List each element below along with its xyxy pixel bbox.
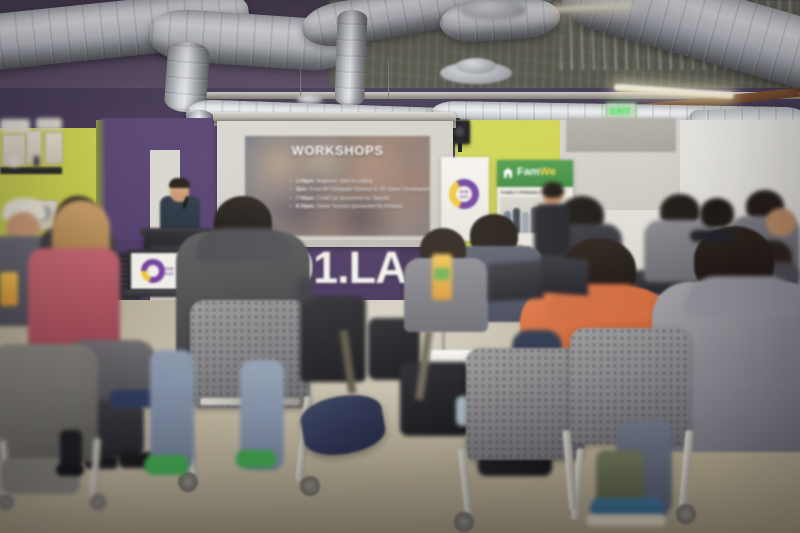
jacket-on-chair (0, 344, 98, 462)
hanger-rod (388, 60, 389, 98)
framed-art (45, 132, 63, 164)
green-sneaker (236, 450, 276, 468)
wall-soffit (566, 118, 676, 152)
laptop (540, 256, 588, 295)
laptop-hub-logo-icon (141, 259, 165, 283)
shelf-object-small (34, 156, 39, 167)
green-sneaker (144, 455, 188, 475)
famwe-logo-text: FamWe (517, 166, 556, 178)
shelf-object-mug (8, 155, 20, 167)
chair-caster (454, 512, 474, 532)
hub-logo-icon: HUB 3101 (449, 179, 479, 209)
boot-sole (56, 464, 84, 476)
chair-caster (178, 472, 198, 492)
snack-bag-label (434, 268, 450, 280)
laptop-screen: HUB 3101 (131, 253, 181, 289)
exit-sign-label: EXIT (610, 107, 632, 116)
slide-title: WORKSHOPS (245, 143, 430, 158)
chair-caster (300, 476, 320, 496)
laptop (488, 260, 544, 302)
person-head (766, 208, 796, 236)
snack-bag (0, 272, 18, 306)
chair-caster (676, 504, 696, 524)
slide-bullet: 3pm: From AP Computer Science to 3D Game… (290, 186, 428, 194)
photo-person (522, 212, 529, 233)
exit-sign: EXIT (606, 103, 636, 119)
projection-screen-housing (213, 112, 456, 121)
glasses-icon (690, 230, 734, 242)
hub-logo-text: HUB 3101 (454, 190, 474, 199)
hoodie-hood (196, 228, 292, 262)
person-standing-torso (534, 204, 570, 256)
house-icon (502, 167, 514, 179)
ceiling-diffuser-upper (460, 0, 526, 20)
laptop-hub-logo-inner (147, 265, 159, 277)
person-hair (700, 198, 734, 228)
hoodie-hood (684, 276, 800, 316)
wall-shelf (0, 167, 62, 174)
rolling-suitcase (300, 296, 366, 382)
slide-bullet: 8:30pm: Game Tourney (presented By Kines… (290, 203, 428, 211)
hvac-duct-drop-center (334, 10, 367, 107)
slide-bullet: 1:00pm: Beginner: Intro to coding (290, 178, 428, 186)
sneaker-sole (586, 514, 666, 526)
shelf-object-top-2 (36, 118, 62, 130)
laptop-hub-logo-text: HUB 3101 (165, 267, 174, 276)
suitcase-handle (298, 278, 312, 302)
photo-scene: EXIT WORKSHOPS 1:00pm: Beginner: Intro t… (0, 0, 800, 533)
person-jeans (150, 350, 194, 470)
shelf-object-top (0, 119, 30, 133)
famwe-banner-header: FamWe (497, 160, 573, 187)
person-hair (542, 182, 564, 198)
ceiling-puck-light (297, 95, 323, 104)
presentation-slide: WORKSHOPS 1:00pm: Beginner: Intro to cod… (245, 136, 430, 236)
slide-bullet: 7:00pm: CodeCup (presented by Splunk) (290, 195, 428, 203)
speaker-mount-arm (458, 143, 462, 152)
presenter-hair (169, 178, 190, 188)
chair-caster (90, 494, 106, 510)
ceiling-diffuser-cap (456, 58, 496, 74)
slide-bullet-list: 1:00pm: Beginner: Intro to coding 3pm: F… (250, 178, 428, 212)
famwe-subtitle: FAMILY-FRIENDLY A (501, 190, 546, 195)
